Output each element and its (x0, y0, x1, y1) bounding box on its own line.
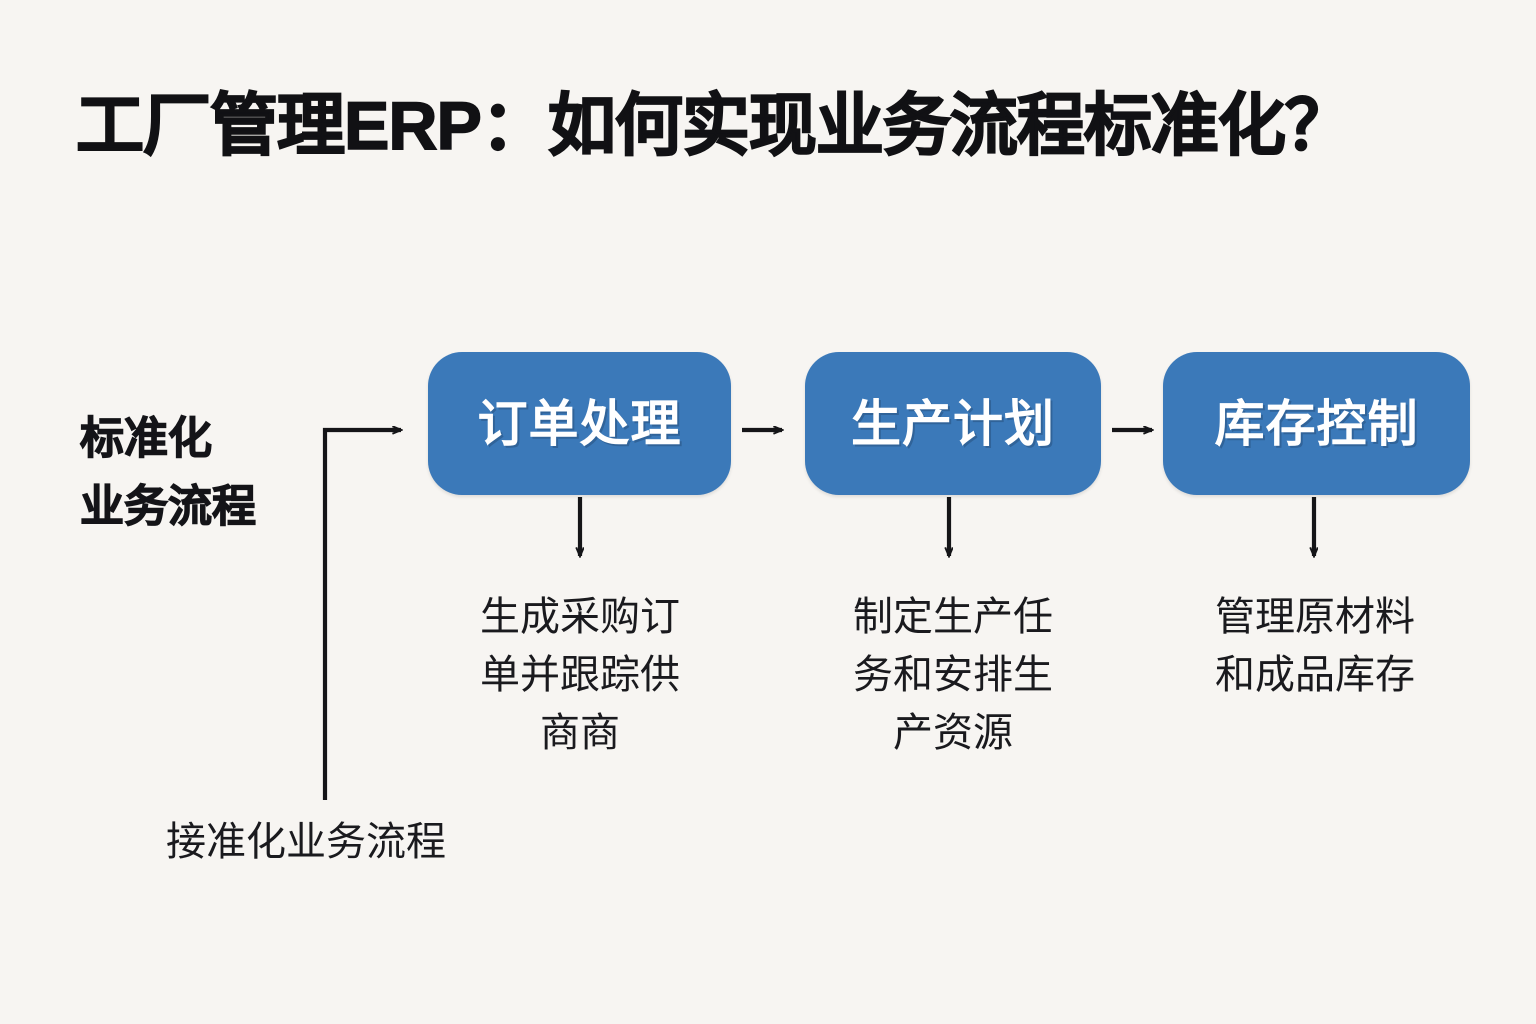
process-node-label: 生产计划 (851, 395, 1055, 453)
description-line: 商商 (430, 704, 730, 762)
process-description-inventory-control: 管理原材料 和成品库存 (1165, 588, 1465, 704)
process-description-production-plan: 制定生产任 务和安排生 产资源 (803, 588, 1103, 762)
process-node-production-plan[interactable]: 生产计划 (805, 352, 1101, 495)
left-group-label-line-2: 业务流程 (80, 473, 320, 541)
connector-left-elbow (325, 430, 401, 800)
left-group-label: 标准化 业务流程 (80, 405, 320, 541)
description-line: 单并跟踪供 (430, 646, 730, 704)
process-node-inventory-control[interactable]: 库存控制 (1163, 352, 1470, 495)
process-description-order-processing: 生成采购订 单并跟踪供 商商 (430, 588, 730, 762)
description-line: 产资源 (803, 704, 1103, 762)
page-title: 工厂管理ERP：如何实现业务流程标准化？ (76, 78, 1352, 174)
description-line: 务和安排生 (803, 646, 1103, 704)
description-line: 管理原材料 (1165, 588, 1465, 646)
description-line: 制定生产任 (803, 588, 1103, 646)
description-line: 和成品库存 (1165, 646, 1465, 704)
description-line: 生成采购订 (430, 588, 730, 646)
process-node-label: 订单处理 (478, 395, 682, 453)
process-node-label: 库存控制 (1215, 395, 1419, 453)
left-group-label-line-1: 标准化 (80, 405, 320, 473)
bottom-caption: 接准化业务流程 (166, 815, 446, 869)
process-node-order-processing[interactable]: 订单处理 (428, 352, 731, 495)
diagram-canvas: 工厂管理ERP：如何实现业务流程标准化？ 标准化 业务流程 接准化业务流程 (0, 0, 1536, 1024)
